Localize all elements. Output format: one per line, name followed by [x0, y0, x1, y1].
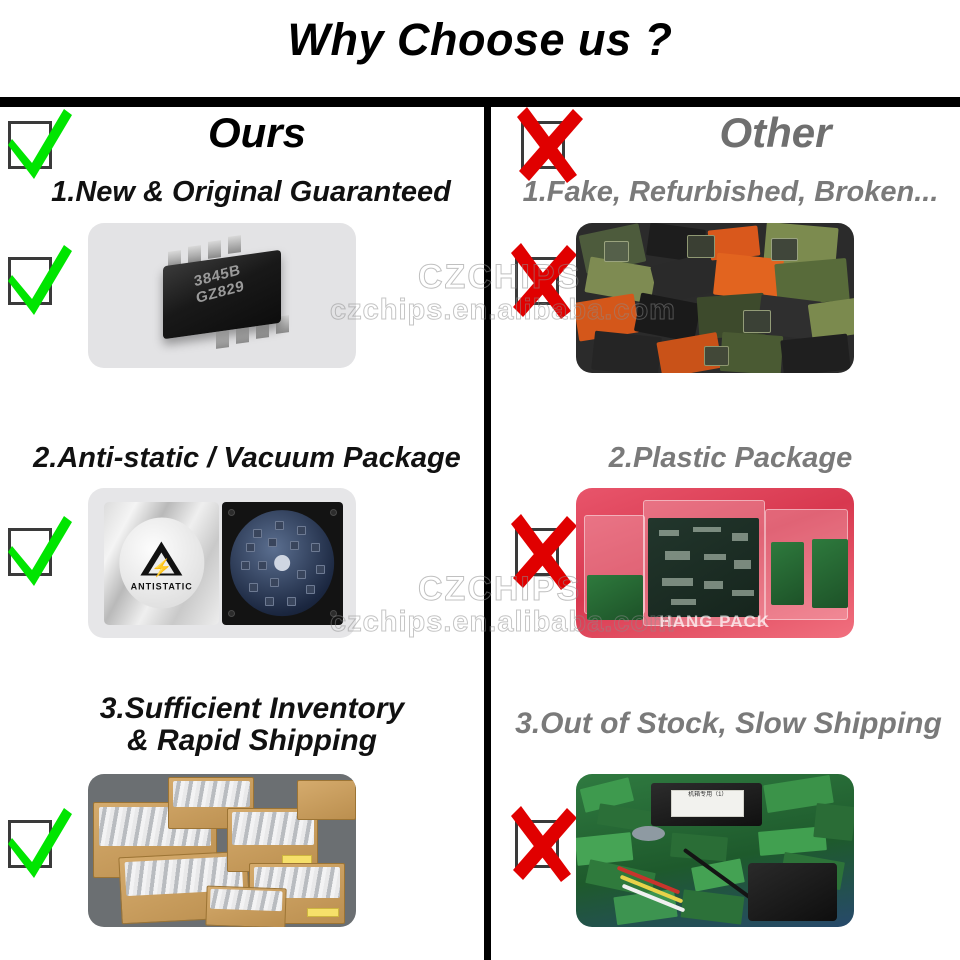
antistatic-bag: ⚡ ANTISTATIC [104, 502, 219, 625]
black-module: 机箱专用（1） [651, 783, 762, 826]
hangpack-watermark: HANG PACK [659, 612, 770, 632]
row-ours-3: 3.Sufficient Inventory & Rapid Shipping [0, 698, 484, 948]
row-ours-3-label: 3.Sufficient Inventory & Rapid Shipping [0, 693, 484, 758]
green-pcb-scrap-photo: 机箱专用（1） [576, 774, 854, 927]
boxes-of-antistatic-bags-photo [88, 774, 356, 927]
row-other-2-label: 2.Plastic Package [491, 443, 960, 474]
row-ours-3-media [88, 774, 356, 927]
row-ours-2-label: 2.Anti-static / Vacuum Package [0, 443, 484, 474]
component-reel [222, 502, 343, 625]
row-ours-2-media: ⚡ ANTISTATIC [88, 488, 356, 638]
row-ours-1-label: 1.New & Original Guaranteed [0, 177, 484, 208]
row-other-3-media: 机箱专用（1） [576, 774, 854, 927]
row-other-2: 2.Plastic Package [491, 443, 960, 698]
column-ours-label: Ours [0, 109, 484, 157]
check-icon [8, 528, 60, 580]
row-ours-1-media: 3845B GZ829 [88, 223, 356, 368]
row-ours-2: 2.Anti-static / Vacuum Package ⚡ ANTIST [0, 443, 484, 698]
black-pad [748, 863, 837, 921]
pink-plastic-bag-pcb-photo: HANG PACK [576, 488, 854, 638]
check-icon [8, 257, 60, 309]
module-label: 机箱专用（1） [671, 790, 744, 817]
row-other-1-media [576, 223, 854, 373]
cross-icon [515, 820, 567, 872]
why-choose-us-infographic: Why Choose us ? Ours 1.New & Original Gu… [0, 0, 960, 960]
check-icon [8, 820, 60, 872]
column-divider-vertical [484, 103, 491, 960]
column-other-header: Other [491, 103, 960, 175]
scrap-chips-pile-photo [576, 223, 854, 373]
cross-icon [515, 528, 567, 580]
chip-photo: 3845B GZ829 [88, 223, 356, 368]
row-ours-1: 1.New & Original Guaranteed [0, 175, 484, 443]
column-ours: Ours 1.New & Original Guaranteed [0, 103, 484, 960]
column-other: Other 1.Fake, Refurbished, Broken... [491, 103, 960, 960]
column-other-label: Other [491, 109, 960, 157]
row-other-3: 3.Out of Stock, Slow Shipping [491, 698, 960, 948]
antistatic-bag-and-reel-photo: ⚡ ANTISTATIC [88, 488, 356, 638]
row-other-2-media: HANG PACK [576, 488, 854, 638]
antistatic-label: ANTISTATIC [119, 581, 204, 591]
page-title: Why Choose us ? [0, 14, 960, 66]
row-other-3-label: 3.Out of Stock, Slow Shipping [491, 708, 960, 740]
column-ours-header: Ours [0, 103, 484, 175]
row-other-1-label: 1.Fake, Refurbished, Broken... [491, 177, 960, 208]
row-other-1: 1.Fake, Refurbished, Broken... [491, 175, 960, 443]
cross-icon [515, 257, 567, 309]
lightning-bolt-icon: ⚡ [151, 559, 172, 576]
